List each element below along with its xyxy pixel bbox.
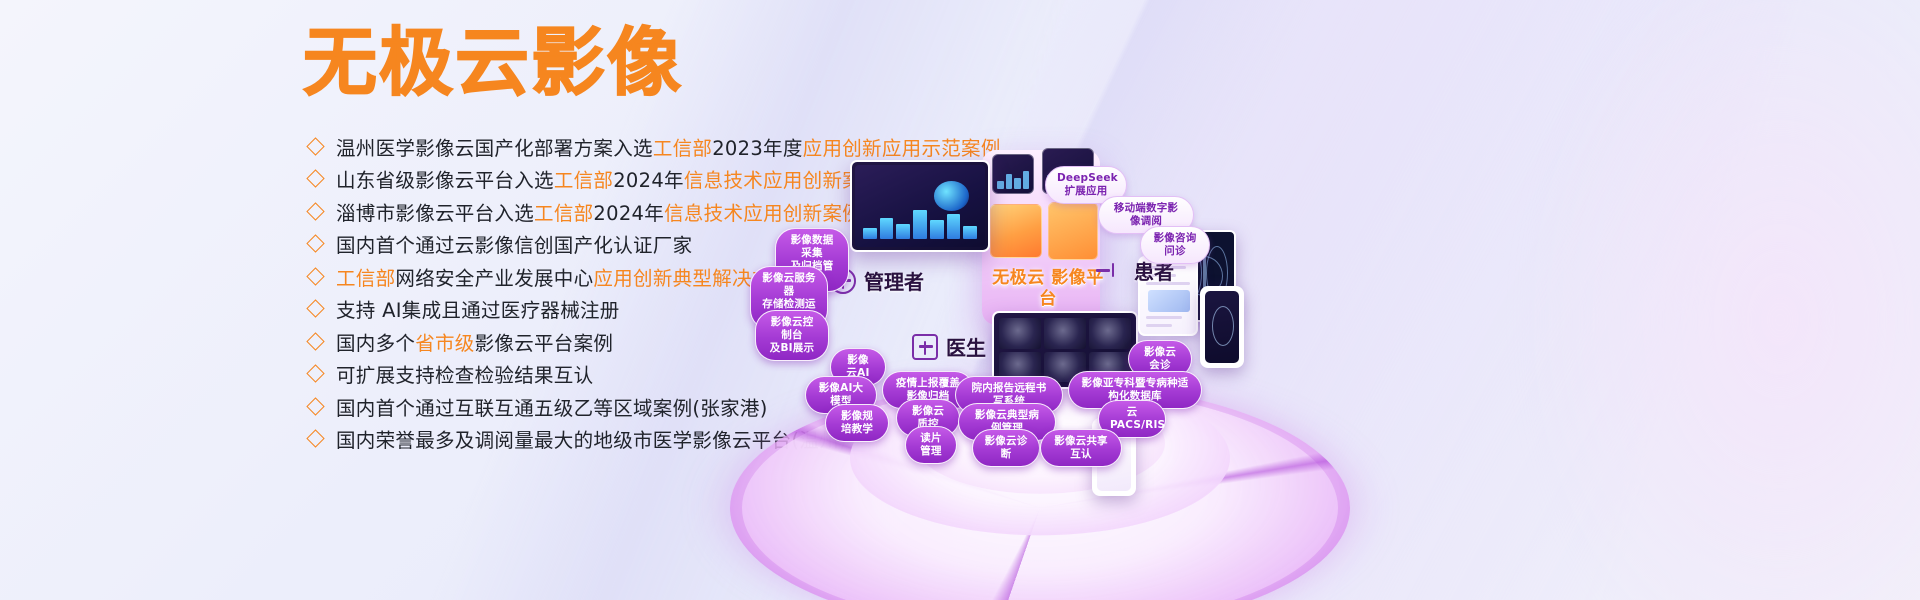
bullet-segment: 工信部: [336, 267, 395, 290]
bullet-segment: 温州医学影像云国产化部署方案入选: [336, 137, 653, 160]
tower-screen-1: [992, 154, 1034, 194]
bullet-segment: 网络安全产业发展中心: [395, 267, 593, 290]
diamond-bullet-icon: [306, 430, 324, 448]
center-platform-badge: 无极云 影像平台: [988, 268, 1108, 310]
feature-pill-teaching: 影像规培教学: [825, 404, 889, 442]
diamond-bullet-icon: [306, 267, 324, 285]
bullet-segment: 国内多个: [336, 332, 415, 355]
diamond-bullet-icon: [306, 202, 324, 220]
diamond-bullet-icon: [306, 332, 324, 350]
banner-root: 无极云影像 温州医学影像云国产化部署方案入选工信部2023年度应用创新应用示范案…: [0, 0, 1920, 600]
feature-pill-consult: 影像咨询问诊: [1140, 226, 1210, 264]
bullet-segment: 2024年: [613, 169, 684, 192]
bullet-segment: 省市级: [415, 332, 474, 355]
role-doctor: 医生: [912, 332, 986, 361]
diamond-bullet-icon: [306, 397, 324, 415]
bullet-segment: 国内首个通过云影像信创国产化认证厂家: [336, 234, 692, 257]
mobile-viewer-phone: [1200, 286, 1244, 368]
platform-illustration: 无极云 影像平台: [700, 118, 1920, 600]
dashboard-tablet: [850, 160, 990, 252]
bullet-segment: 工信部: [534, 202, 593, 225]
diamond-bullet-icon: [306, 170, 324, 188]
role-label: 管理者: [864, 266, 924, 295]
feature-pill-reading: 读片管理: [905, 426, 957, 464]
feature-pill-share: 影像云共享互认: [1040, 429, 1122, 467]
diamond-bullet-icon: [306, 365, 324, 383]
diamond-bullet-icon: [306, 137, 324, 155]
bullet-segment: 影像云平台案例: [475, 332, 614, 355]
feature-pill-diagnosis: 影像云诊断: [972, 429, 1040, 467]
bullet-segment: 支持 AI集成且通过医疗器械注册: [336, 299, 620, 322]
medical-cross-square-icon: [912, 334, 938, 360]
tower-panel-3: [990, 204, 1042, 258]
bullet-segment: 可扩展支持检查检验结果互认: [336, 364, 593, 387]
bullet-segment: 山东省级影像云平台入选: [336, 169, 554, 192]
page-title: 无极云影像: [303, 24, 683, 102]
person-icon: [1100, 258, 1126, 284]
bullet-text: 支持 AI集成且通过医疗器械注册: [336, 294, 620, 323]
bullet-text: 可扩展支持检查检验结果互认: [336, 359, 593, 388]
bullet-text: 国内首个通过云影像信创国产化认证厂家: [336, 229, 692, 258]
bullet-segment: 淄博市影像云平台入选: [336, 202, 534, 225]
tower-panel-4: [1048, 202, 1098, 260]
role-label: 医生: [946, 332, 986, 361]
bullet-segment: 工信部: [554, 169, 613, 192]
bullet-text: 国内多个省市级影像云平台案例: [336, 327, 613, 356]
bullet-segment: 2024年: [593, 202, 664, 225]
diamond-bullet-icon: [306, 300, 324, 318]
feature-pill-console: 影像云控制台 及BI展示: [755, 310, 829, 361]
diamond-bullet-icon: [306, 235, 324, 253]
